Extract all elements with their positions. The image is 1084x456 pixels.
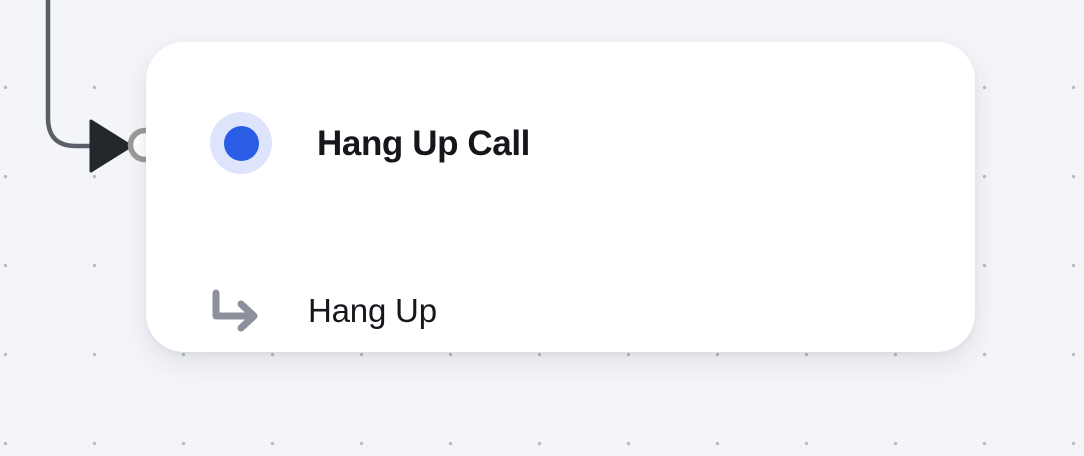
flow-canvas[interactable]: Hang Up Call Hang Up: [0, 0, 1084, 456]
node-action-label: Hang Up: [308, 294, 437, 327]
node-title: Hang Up Call: [317, 126, 530, 161]
filled-circle-icon: [210, 112, 272, 174]
edge-arrowhead-icon: [91, 121, 131, 171]
node-header: Hang Up Call: [210, 112, 530, 174]
corner-down-right-arrow-icon: [210, 287, 262, 333]
node-action-row[interactable]: Hang Up: [210, 285, 437, 335]
hang-up-call-node[interactable]: Hang Up Call Hang Up: [146, 42, 975, 352]
filled-circle-icon-dot: [224, 126, 259, 161]
